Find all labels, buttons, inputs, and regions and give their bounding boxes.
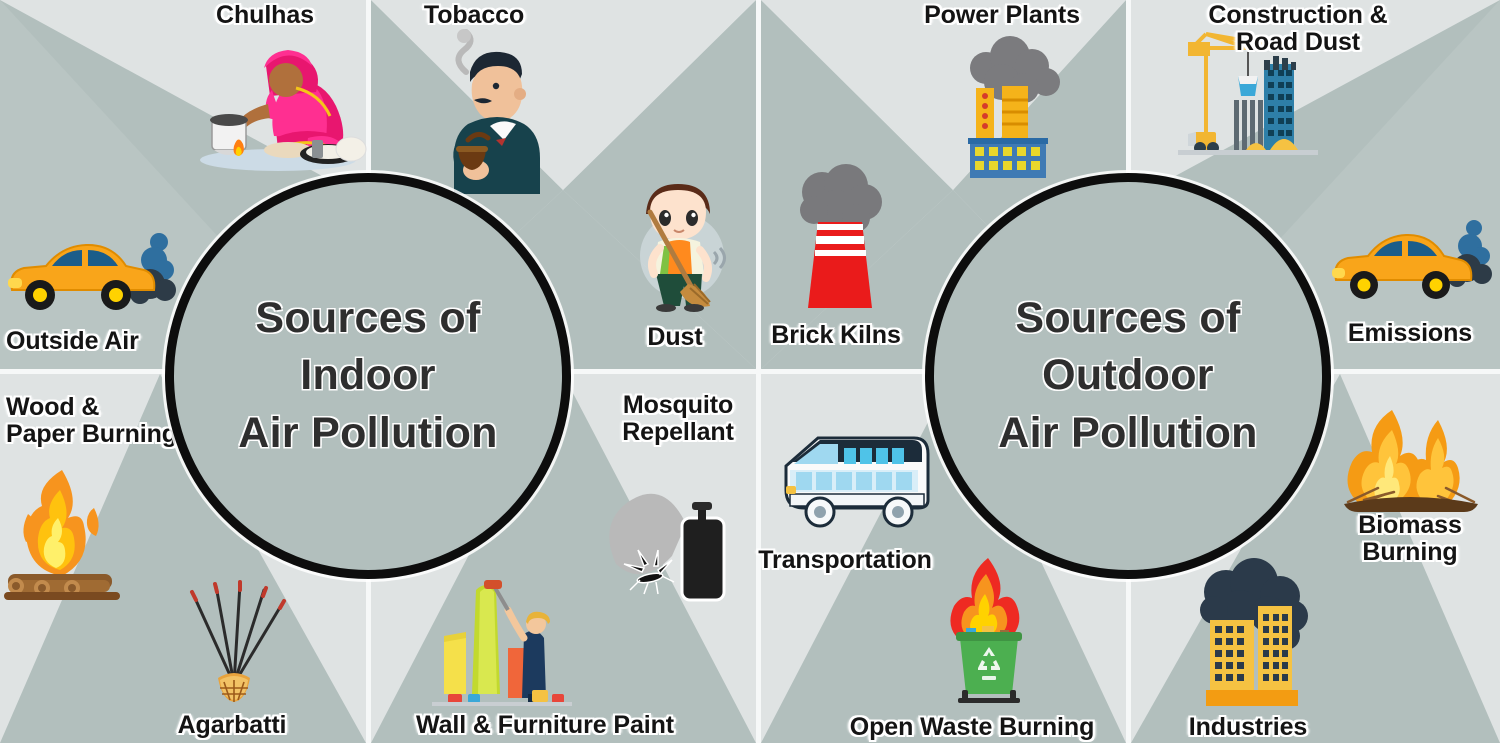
source-label-dust: Dust <box>647 324 702 351</box>
source-label-mosquito: Mosquito Repellant <box>622 392 734 446</box>
source-label-biomass: Biomass Burning <box>1358 512 1462 566</box>
hub-outdoor[interactable]: Sources of Outdoor Air Pollution <box>925 173 1331 579</box>
source-label-open-waste: Open Waste Burning <box>850 714 1095 741</box>
car-exhaust-icon <box>1330 206 1500 314</box>
bus-icon <box>772 420 938 540</box>
man-smoking-pipe-icon <box>410 28 540 196</box>
aerosol-spray-can-icon <box>596 466 748 606</box>
source-label-agarbatti: Agarbatti <box>178 712 287 739</box>
source-label-construction: Construction & Road Dust <box>1197 2 1399 56</box>
source-label-brick-kilns: Brick Kilns <box>771 322 901 349</box>
car-exhaust-icon <box>4 212 194 322</box>
source-label-tobacco: Tobacco <box>424 2 524 29</box>
source-label-chulhas: Chulhas <box>216 2 314 29</box>
burning-trash-bin-icon <box>940 556 1040 708</box>
source-label-wall-paint: Wall & Furniture Paint <box>416 712 674 739</box>
biomass-fire-icon <box>1338 404 1484 512</box>
painter-roller-icon <box>432 578 572 706</box>
hub-indoor[interactable]: Sources of Indoor Air Pollution <box>165 173 571 579</box>
hub-outdoor-title: Sources of Outdoor Air Pollution <box>998 290 1258 462</box>
brick-kiln-chimney-icon <box>780 160 900 312</box>
power-plant-smokestack-icon <box>950 30 1076 180</box>
source-label-outside-air: Outside Air <box>6 328 139 355</box>
incense-sticks-icon <box>170 578 300 706</box>
source-label-emissions: Emissions <box>1348 320 1472 347</box>
source-label-industries: Industries <box>1189 714 1307 741</box>
source-label-wood-paper: Wood & Paper Burning <box>6 394 177 448</box>
industrial-buildings-smoke-icon <box>1188 562 1316 710</box>
source-label-power-plants: Power Plants <box>924 2 1080 29</box>
source-label-transport: Transportation <box>758 547 932 574</box>
infographic-root: Sources of Indoor Air Pollution Sources … <box>0 0 1500 743</box>
hub-indoor-title: Sources of Indoor Air Pollution <box>238 290 498 462</box>
woman-cooking-chulha-icon <box>188 32 358 172</box>
campfire-logs-icon <box>2 462 124 602</box>
boy-sweeping-broom-icon <box>620 178 738 318</box>
